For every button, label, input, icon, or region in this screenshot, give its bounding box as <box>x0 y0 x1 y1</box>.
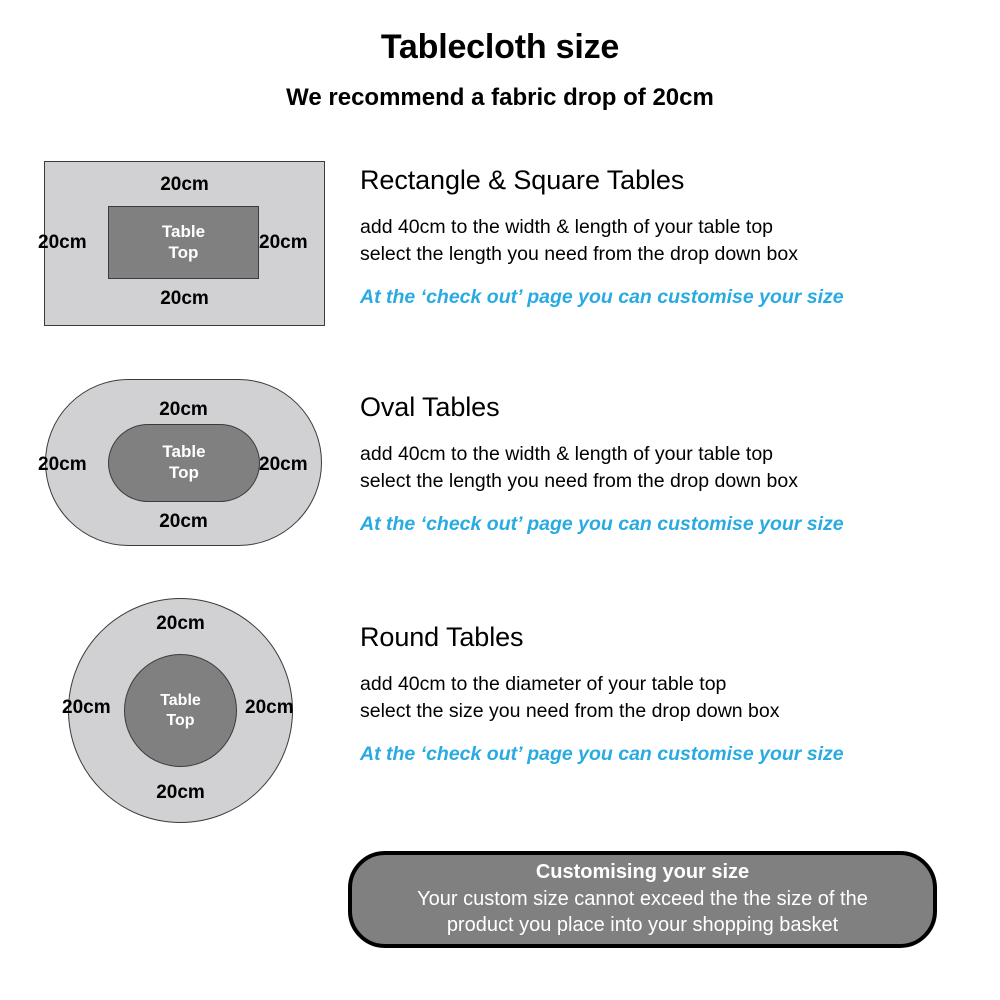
round-drop-right: 20cm <box>245 697 294 719</box>
oval-text-block: Oval Tables add 40cm to the width & leng… <box>360 393 844 536</box>
round-drop-top: 20cm <box>68 613 293 635</box>
round-instruction-1: add 40cm to the diameter of your table t… <box>360 671 844 699</box>
rectangle-heading: Rectangle & Square Tables <box>360 166 844 196</box>
callout-line-1: Your custom size cannot exceed the the s… <box>417 886 868 912</box>
oval-drop-bottom: 20cm <box>45 511 322 533</box>
rectangle-text-block: Rectangle & Square Tables add 40cm to th… <box>360 166 844 309</box>
callout-line-2: product you place into your shopping bas… <box>447 912 838 938</box>
oval-drop-right: 20cm <box>259 454 308 476</box>
round-heading: Round Tables <box>360 623 844 653</box>
tabletop-label-line2: Top <box>166 711 194 731</box>
rectangle-instruction-1: add 40cm to the width & length of your t… <box>360 214 844 242</box>
round-text-block: Round Tables add 40cm to the diameter of… <box>360 623 844 766</box>
rectangle-instruction-2: select the length you need from the drop… <box>360 241 844 269</box>
infographic-page: Tablecloth size We recommend a fabric dr… <box>0 0 1000 1000</box>
oval-tabletop-shape: Table Top <box>108 424 260 502</box>
rectangle-drop-left: 20cm <box>38 232 87 254</box>
tabletop-label-line1: Table <box>160 691 201 711</box>
tabletop-label-line2: Top <box>169 463 199 484</box>
round-drop-bottom: 20cm <box>68 782 293 804</box>
tabletop-label-line2: Top <box>169 243 199 264</box>
round-drop-left: 20cm <box>62 697 111 719</box>
tabletop-label-line1: Table <box>162 442 205 463</box>
oval-checkout-note: At the ‘check out’ page you can customis… <box>360 513 844 536</box>
oval-instruction-1: add 40cm to the width & length of your t… <box>360 441 844 469</box>
oval-drop-top: 20cm <box>45 399 322 421</box>
page-title: Tablecloth size <box>0 28 1000 67</box>
round-tabletop-shape: Table Top <box>124 654 237 767</box>
customising-callout: Customising your size Your custom size c… <box>348 851 937 948</box>
oval-instruction-2: select the length you need from the drop… <box>360 468 844 496</box>
round-checkout-note: At the ‘check out’ page you can customis… <box>360 743 844 766</box>
oval-heading: Oval Tables <box>360 393 844 423</box>
rectangle-drop-bottom: 20cm <box>44 288 325 310</box>
rectangle-tabletop-shape: Table Top <box>108 206 259 279</box>
round-instruction-2: select the size you need from the drop d… <box>360 698 844 726</box>
rectangle-checkout-note: At the ‘check out’ page you can customis… <box>360 286 844 309</box>
callout-title: Customising your size <box>536 860 749 886</box>
rectangle-drop-top: 20cm <box>44 174 325 196</box>
tabletop-label-line1: Table <box>162 222 205 243</box>
rectangle-drop-right: 20cm <box>259 232 308 254</box>
oval-drop-left: 20cm <box>38 454 87 476</box>
page-subtitle: We recommend a fabric drop of 20cm <box>0 84 1000 112</box>
